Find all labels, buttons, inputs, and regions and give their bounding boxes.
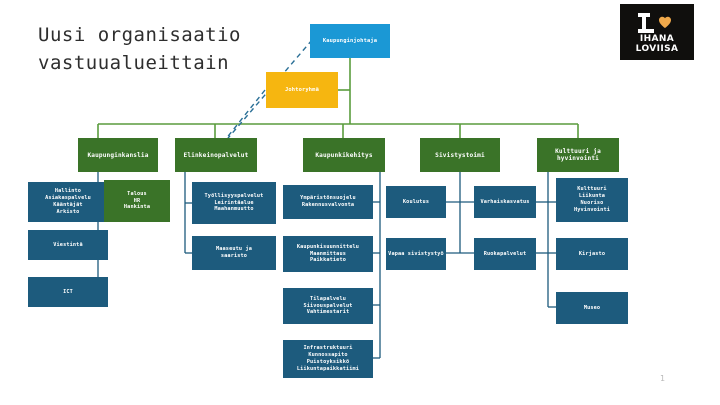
node-label: Kaupunginkanslia	[87, 152, 148, 159]
node-johtoryhma[interactable]: Johtoryhmä	[266, 72, 338, 108]
node-ymparistonsuojelu[interactable]: Ympäristönsuojelu Rakennusvalvonta	[283, 185, 373, 219]
node-kaupunginkanslia[interactable]: Kaupunginkanslia	[78, 138, 158, 172]
logo-line-2: LOVIISA	[620, 44, 694, 54]
node-label: Kaupunginjohtaja	[323, 38, 377, 44]
node-label: Koulutus	[403, 199, 429, 206]
ihana-loviisa-logo-icon	[634, 11, 680, 35]
node-kulttuuri-liikunta-nuoriso[interactable]: Kulttuuri Liikunta Nuoriso Hyvinvointi	[556, 178, 628, 222]
node-talous-hr-hankinta[interactable]: Talous HR Hankinta	[104, 180, 170, 222]
node-koulutus[interactable]: Koulutus	[386, 186, 446, 218]
node-label: Kirjasto	[579, 251, 605, 258]
node-label: Ympäristönsuojelu Rakennusvalvonta	[300, 195, 356, 209]
node-label: Sivistystoimi	[435, 152, 485, 159]
node-label: Tilapalvelu Siivouspalvelut Vahtimestari…	[303, 296, 352, 317]
node-label: Talous HR Hankinta	[124, 191, 150, 212]
node-tilapalvelu[interactable]: Tilapalvelu Siivouspalvelut Vahtimestari…	[283, 288, 373, 324]
node-label: Viestintä	[53, 242, 82, 249]
node-label: ICT	[63, 289, 73, 296]
node-label: Varhaiskasvatus	[480, 199, 529, 206]
node-ict[interactable]: ICT	[28, 277, 108, 307]
node-viestinta[interactable]: Viestintä	[28, 230, 108, 260]
slide-canvas: Uusi organisaatio vastuualueittain IHANA…	[0, 0, 720, 405]
node-label: Vapaa sivistystyö	[388, 251, 444, 258]
node-kaupunginjohtaja[interactable]: Kaupunginjohtaja	[310, 24, 390, 58]
node-museo[interactable]: Museo	[556, 292, 628, 324]
node-kulttuuri-ja-hyvinvointi[interactable]: Kulttuuri ja hyvinvointi	[537, 138, 619, 172]
node-ruokapalvelut[interactable]: Ruokapalvelut	[474, 238, 536, 270]
logo: IHANA LOVIISA	[620, 4, 694, 60]
node-kaupunkikehitys[interactable]: Kaupunkikehitys	[303, 138, 385, 172]
node-kaupunkisuunnittelu[interactable]: Kaupunkisuunnittelu Maanmittaus Paikkati…	[283, 236, 373, 272]
node-kirjasto[interactable]: Kirjasto	[556, 238, 628, 270]
node-label: Hallinto Asiakaspalvelu Kääntäjät Arkist…	[45, 188, 91, 215]
node-label: Elinkeinopalvelut	[184, 152, 249, 159]
node-label: Maaseutu ja saaristo	[216, 246, 252, 260]
node-label: Kulttuuri ja hyvinvointi	[555, 148, 601, 162]
node-elinkeinopalvelut[interactable]: Elinkeinopalvelut	[175, 138, 257, 172]
node-hallinto-asiakaspalvelu[interactable]: Hallinto Asiakaspalvelu Kääntäjät Arkist…	[28, 182, 108, 222]
node-label: Kulttuuri Liikunta Nuoriso Hyvinvointi	[574, 186, 610, 213]
node-label: Työllisyyspalvelut Leirintäalue Maahanmu…	[205, 193, 264, 214]
node-tyollisyyspalvelut[interactable]: Työllisyyspalvelut Leirintäalue Maahanmu…	[192, 182, 276, 224]
logo-text: IHANA LOVIISA	[620, 34, 694, 55]
node-label: Ruokapalvelut	[484, 251, 527, 258]
node-label: Infrastruktuuri Kunnossapito Puistoyksik…	[297, 345, 359, 372]
node-sivistystoimi[interactable]: Sivistystoimi	[420, 138, 500, 172]
node-label: Johtoryhmä	[285, 87, 319, 93]
page-number: 1	[660, 374, 665, 383]
node-label: Kaupunkisuunnittelu Maanmittaus Paikkati…	[297, 244, 359, 265]
node-infrastruktuuri[interactable]: Infrastruktuuri Kunnossapito Puistoyksik…	[283, 340, 373, 378]
node-varhaiskasvatus[interactable]: Varhaiskasvatus	[474, 186, 536, 218]
node-label: Museo	[584, 305, 600, 312]
node-vapaa-sivistystyo[interactable]: Vapaa sivistystyö	[386, 238, 446, 270]
page-title: Uusi organisaatio vastuualueittain	[38, 22, 338, 77]
logo-line-1: IHANA	[620, 34, 694, 44]
node-maaseutu-ja-saaristo[interactable]: Maaseutu ja saaristo	[192, 236, 276, 270]
node-label: Kaupunkikehitys	[315, 152, 372, 159]
